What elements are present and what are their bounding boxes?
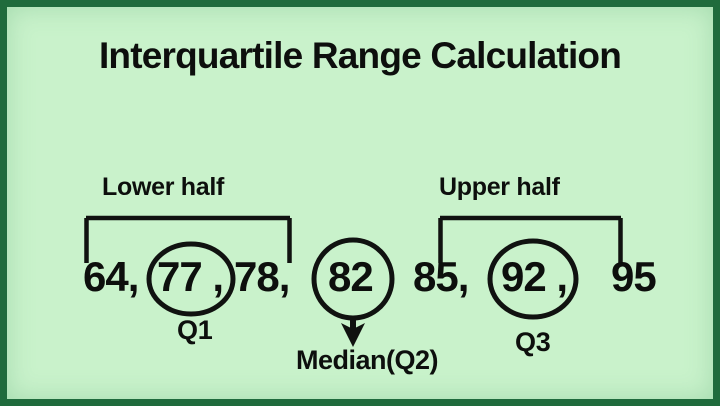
value-95: 95 [611, 256, 656, 298]
value-85: 85, [413, 256, 468, 298]
value-78: 78, [234, 256, 289, 298]
value-92: 92 , [501, 256, 567, 298]
median-label: Median(Q2) [7, 347, 720, 374]
value-64: 64, [83, 256, 138, 298]
q1-label: Q1 [177, 317, 212, 344]
value-82: 82 [328, 256, 373, 298]
iqr-diagram: Interquartile Range Calculation Lower ha… [0, 0, 720, 406]
value-77: 77 , [157, 256, 223, 298]
